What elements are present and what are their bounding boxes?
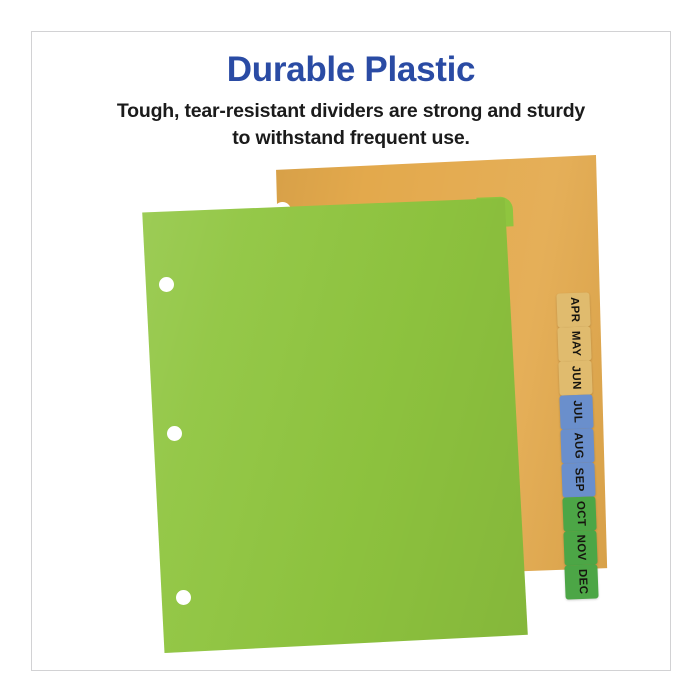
tab-dec-label: DEC	[575, 569, 587, 595]
tab-nov[interactable]: NOV	[563, 530, 597, 565]
tab-apr-label: APR	[567, 297, 579, 323]
green-divider-punch-hole-middle	[167, 426, 182, 441]
green-divider-punch-hole-bottom	[176, 590, 191, 605]
tab-aug[interactable]: AUG	[560, 428, 594, 463]
page-title: Durable Plastic	[31, 48, 671, 92]
page-subtitle: Tough, tear-resistant dividers are stron…	[61, 98, 641, 152]
tab-dec[interactable]: DEC	[564, 564, 598, 599]
tab-jul[interactable]: JUL	[559, 394, 593, 429]
tab-jun[interactable]: JUN	[558, 360, 592, 395]
tab-jul-label: JUL	[570, 400, 582, 423]
tab-aug-label: AUG	[571, 432, 584, 459]
subtitle-line-2: to withstand frequent use.	[232, 127, 469, 149]
tab-sep-label: SEP	[572, 468, 584, 493]
tab-may[interactable]: MAY	[557, 326, 591, 361]
green-divider-punch-hole-top	[159, 277, 174, 292]
tab-oct-label: OCT	[573, 501, 585, 527]
subtitle-line-1: Tough, tear-resistant dividers are stron…	[117, 100, 585, 122]
tab-jun-label: JUN	[569, 366, 581, 391]
tab-apr[interactable]: APR	[556, 292, 590, 327]
tab-nov-label: NOV	[574, 535, 586, 562]
tab-sep[interactable]: SEP	[561, 462, 595, 497]
product-image-canvas: Durable Plastic Tough, tear-resistant di…	[0, 0, 700, 700]
tab-oct[interactable]: OCT	[562, 496, 596, 531]
product-photo: JAN FEB MAR APR MAY JUN JUL AUG SEP OCT	[32, 150, 670, 670]
tab-may-label: MAY	[568, 331, 580, 357]
